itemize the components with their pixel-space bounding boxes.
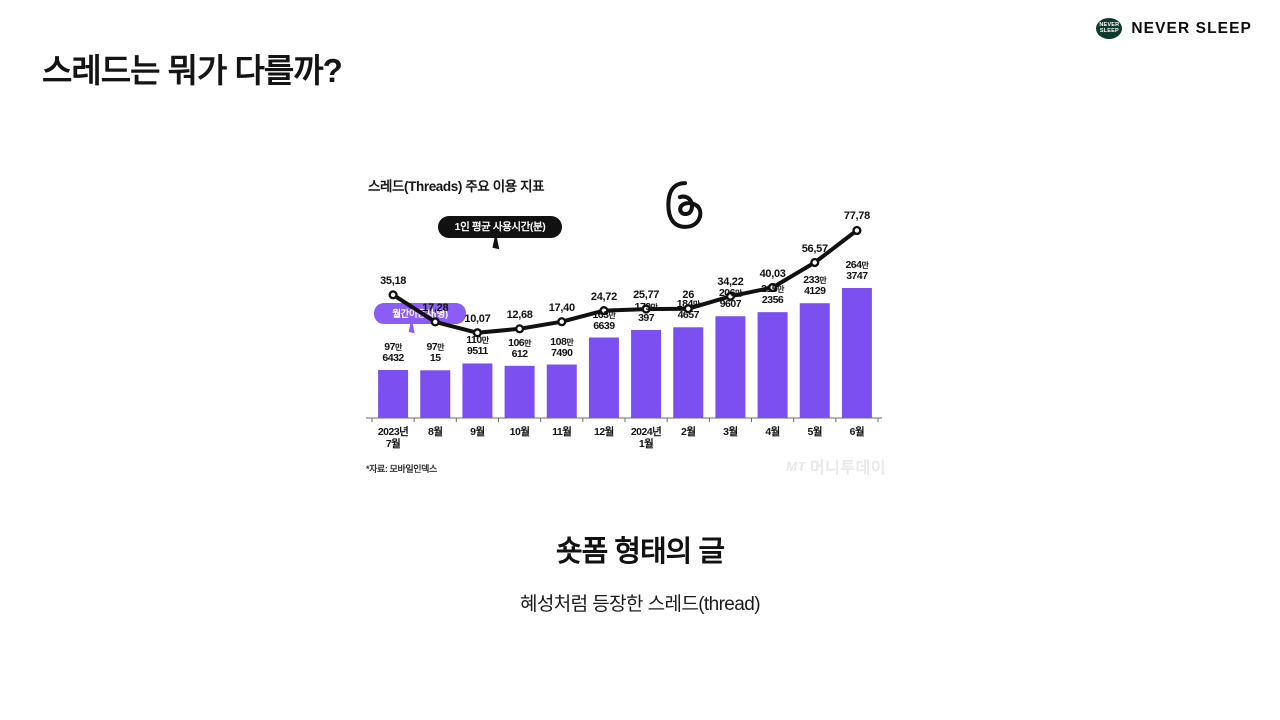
line-value-label: 17,40 — [549, 302, 575, 314]
chart-plot-area — [360, 163, 890, 488]
bar-value-label: 215만2356 — [761, 284, 784, 306]
bar — [631, 330, 661, 418]
line-value-label: 24,72 — [591, 291, 617, 303]
brand-wordmark: NEVER SLEEP — [1131, 20, 1252, 38]
x-axis-label: 3월 — [723, 427, 738, 439]
x-axis-label: 10월 — [510, 427, 530, 439]
line-point — [432, 318, 439, 325]
bar-value-label: 206만9607 — [719, 288, 742, 310]
bar — [673, 327, 703, 418]
bar — [547, 365, 577, 418]
bar — [505, 366, 535, 418]
x-axis-label: 5월 — [808, 427, 823, 439]
line-value-label: 35,18 — [380, 275, 406, 287]
line-value-label: 10,07 — [464, 313, 490, 325]
bar-value-label: 163만6639 — [592, 310, 615, 332]
bar-value-label: 97만6432 — [382, 342, 403, 364]
x-axis-label: 11월 — [552, 427, 571, 439]
line-value-label: 77,78 — [844, 210, 870, 222]
badge-line-2: SLEEP — [1100, 29, 1119, 35]
line-value-label: 56,57 — [802, 243, 828, 255]
bar-value-label: 110만9511 — [466, 335, 488, 357]
bar — [462, 363, 492, 418]
bar-value-label: 97만15 — [426, 342, 444, 364]
line-point — [811, 259, 818, 266]
bar — [842, 288, 872, 418]
x-axis-label: 12월 — [594, 427, 614, 439]
source-note: *자료: 모바일인덱스 — [366, 462, 437, 475]
line-value-label: 40,03 — [760, 268, 786, 280]
watermark-name: 머니투데이 — [810, 454, 886, 478]
x-axis-label: 8월 — [428, 427, 443, 439]
x-axis-label: 9월 — [470, 427, 485, 439]
bar — [715, 316, 745, 418]
caption-main: 숏폼 형태의 글 — [0, 528, 1280, 570]
bar-value-label: 233만4129 — [803, 275, 826, 297]
bar-value-label: 106만612 — [508, 338, 531, 360]
bar — [800, 303, 830, 418]
bar — [758, 312, 788, 418]
bar-value-label: 179만397 — [635, 302, 658, 324]
line-point — [558, 318, 565, 325]
bar — [420, 370, 450, 418]
threads-metrics-figure: 스레드(Threads) 주요 이용 지표 1인 평균 사용시간(분) 월간이용… — [360, 163, 890, 488]
x-axis-label: 4월 — [765, 427, 780, 439]
watermark-mt: MT — [786, 459, 806, 474]
x-axis-label: 2월 — [681, 427, 696, 439]
bar — [589, 338, 619, 418]
line-value-label: 17,28 — [422, 302, 448, 314]
publisher-watermark: MT 머니투데이 — [786, 454, 886, 478]
caption-sub: 혜성처럼 등장한 스레드(thread) — [0, 589, 1280, 616]
never-sleep-badge-icon: NEVER SLEEP — [1096, 18, 1122, 39]
line-point — [390, 291, 397, 298]
bar-value-label: 264만3747 — [845, 260, 868, 282]
x-axis-label: 2024년1월 — [631, 427, 662, 450]
x-axis-label: 2023년7월 — [378, 427, 409, 450]
bar-value-label: 184만4657 — [677, 299, 700, 321]
line-point — [854, 227, 861, 234]
bar — [378, 370, 408, 418]
line-value-label: 12,68 — [507, 309, 533, 321]
line-value-label: 25,77 — [633, 289, 659, 301]
x-axis-label: 6월 — [850, 427, 865, 439]
line-point — [516, 325, 523, 332]
page-title: 스레드는 뭐가 다를까? — [42, 44, 342, 92]
brand-logo: NEVER SLEEP NEVER SLEEP — [1096, 18, 1252, 39]
bar-value-label: 108만7490 — [550, 337, 573, 359]
